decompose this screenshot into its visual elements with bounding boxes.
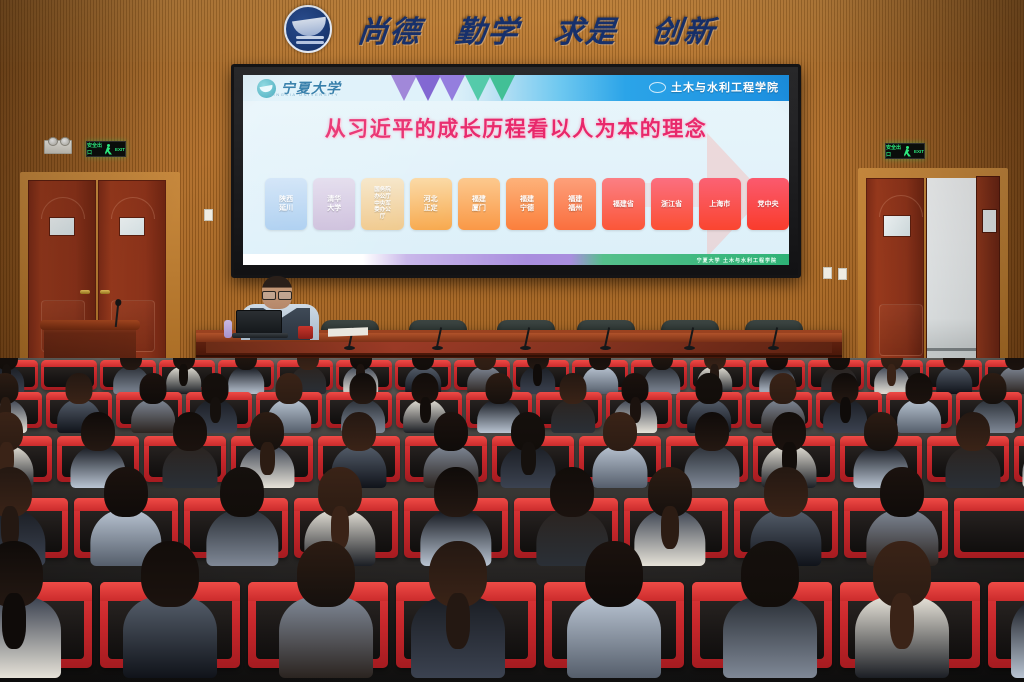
corridor-beyond-door <box>926 178 978 373</box>
table-microphone <box>683 324 695 350</box>
wall-switch-plate[interactable] <box>823 267 832 279</box>
university-emblem-icon <box>284 5 332 53</box>
timeline-card-line: 福州 <box>568 204 582 213</box>
timeline-card-7: 福建福州 <box>554 178 596 230</box>
slide-triangle-decor <box>439 75 465 101</box>
audience-member-head <box>139 373 166 404</box>
door-right[interactable] <box>858 168 1008 380</box>
emergency-light-icon <box>44 140 72 154</box>
audience-member-torso <box>567 597 661 679</box>
exit-sign-left-label: 安全出口 <box>87 142 103 156</box>
audience-member <box>527 358 549 397</box>
timeline-card-8: 福建省 <box>602 178 644 230</box>
timeline-card-line: 延川 <box>279 204 293 213</box>
microphone-base <box>344 346 355 350</box>
audience-member <box>486 373 513 436</box>
laptop <box>232 310 288 338</box>
timeline-card-line: 国务院 <box>374 187 391 194</box>
audience-member-head <box>104 467 148 518</box>
audience-member-head <box>769 373 796 404</box>
slide-triangle-decor <box>391 75 417 101</box>
audience-member-head <box>220 467 264 518</box>
microphone-gooseneck-icon <box>688 327 694 347</box>
audience-member-ponytail <box>533 364 542 386</box>
motto-word-2: 勤学 <box>454 7 523 51</box>
audience-member-head <box>979 373 1006 404</box>
eyeglasses-icon <box>261 291 293 298</box>
audience-member-head <box>695 412 729 451</box>
audience-member-ponytail <box>661 506 679 549</box>
audience-member <box>906 373 933 436</box>
running-man-icon <box>105 144 113 155</box>
timeline-card-3: 国务院办公厅中央军委办公厅 <box>361 178 403 230</box>
door-handle[interactable] <box>80 290 90 294</box>
audience-member <box>881 358 903 397</box>
presenter <box>236 276 324 338</box>
audience-member <box>695 412 729 493</box>
audience-member <box>832 373 859 436</box>
table-skirt-line <box>196 355 842 357</box>
microphone-base <box>600 346 611 350</box>
table-microphone <box>431 324 443 350</box>
slide-triangle-decor <box>465 75 491 101</box>
audience-member-ponytail <box>521 442 535 475</box>
seat-top-rail <box>988 582 1024 601</box>
audience-member-ponytail <box>890 593 914 650</box>
seat-backrest-panel <box>960 506 1024 552</box>
exit-sign-right-en: EXIT <box>914 149 924 154</box>
audience-member-torso <box>279 597 373 679</box>
table-microphone <box>767 324 779 350</box>
audience-member <box>429 541 487 682</box>
exit-sign-left: 安全出口 EXIT <box>86 141 126 157</box>
slide-timeline-cards: 陕西延川清华大学国务院办公厅中央军委办公厅河北正定福建厦门福建宁德福建福州福建省… <box>265 175 789 233</box>
door-window <box>883 215 911 237</box>
audience-member-head <box>349 373 376 404</box>
exit-sign-right: 安全出口 EXIT <box>885 143 925 159</box>
door-window <box>49 217 75 236</box>
exit-sign-right-label: 安全出口 <box>886 144 902 158</box>
audience-member <box>173 412 207 493</box>
audience-member-ponytail <box>420 397 431 423</box>
timeline-card-line: 陕西 <box>279 195 293 204</box>
seat-top-rail <box>41 360 97 367</box>
timeline-card-line: 河北 <box>424 195 438 204</box>
audience-member-head <box>342 412 376 451</box>
audience-member <box>297 541 355 682</box>
audience-member <box>511 412 545 493</box>
timeline-card-11: 党中央 <box>747 178 789 230</box>
audience-member-ponytail <box>446 593 470 650</box>
audience-member-head <box>297 541 355 608</box>
timeline-card-line: 正定 <box>424 204 438 213</box>
audience-member-head <box>585 541 643 608</box>
audience-member <box>589 358 611 397</box>
slide-college-logo: 土木与水利工程学院 <box>649 79 779 95</box>
door-arch-molding <box>879 195 923 217</box>
slide-footer-text: 宁夏大学 土木与水利工程学院 <box>697 257 777 264</box>
seat-top-rail <box>954 498 1024 511</box>
door-panel-molding <box>879 304 923 356</box>
audience-member <box>648 467 692 572</box>
timeline-card-1: 陕西延川 <box>265 178 307 230</box>
lecture-hall-photo: 尚德 勤学 求是 创新 安全出口 EXIT 安全出口 EXIT 宁夏大学 <box>0 0 1024 682</box>
audience-member <box>651 358 673 397</box>
door-leaf[interactable] <box>866 178 924 373</box>
audience-member-head <box>559 373 586 404</box>
audience-member <box>741 541 799 682</box>
wall-switch-plate[interactable] <box>204 209 213 221</box>
audience-member-torso <box>131 399 175 433</box>
audience-area: VE <box>0 358 1024 682</box>
exit-sign-left-en: EXIT <box>115 147 125 152</box>
audience-member-head <box>880 467 924 518</box>
audience-member-ponytail <box>887 364 896 386</box>
auditorium-seat[interactable] <box>954 498 1024 558</box>
door-window <box>119 217 145 236</box>
timeline-card-4: 河北正定 <box>410 178 452 230</box>
timeline-card-line: 福建省 <box>613 200 634 209</box>
audience-member <box>559 373 586 436</box>
timeline-card-line: 上海市 <box>709 200 730 209</box>
wall-motto-banner: 尚德 勤学 求是 创新 <box>284 2 744 56</box>
audience-member-torso <box>897 399 941 433</box>
audience-member-head <box>173 412 207 451</box>
audience-member-torso <box>723 597 817 679</box>
audience-member-head <box>141 541 199 608</box>
motto-word-3: 求是 <box>552 7 621 51</box>
audience-member-ponytail <box>179 364 188 386</box>
lectern-top <box>40 320 140 330</box>
audience-member-torso <box>207 509 278 566</box>
timeline-card-10: 上海市 <box>699 178 741 230</box>
timeline-card-line: 党中央 <box>757 200 778 209</box>
audience-member <box>956 412 990 493</box>
audience-member <box>220 467 264 572</box>
audience-member-head <box>81 412 115 451</box>
timeline-card-line: 浙江省 <box>661 200 682 209</box>
timeline-card-line: 宁德 <box>520 204 534 213</box>
college-logo-icon <box>649 82 666 93</box>
microphone-gooseneck-icon <box>524 327 530 347</box>
audience-member-ponytail <box>2 593 26 650</box>
laptop-keyboard <box>232 333 288 338</box>
seat-top-rail <box>1014 436 1024 446</box>
timeline-card-line: 办公厅 <box>374 194 391 201</box>
audience-member <box>603 412 637 493</box>
timeline-card-line: 福建 <box>472 195 486 204</box>
door-leaf-open[interactable] <box>976 176 1000 376</box>
table-microphone <box>519 324 531 350</box>
water-bottle <box>224 320 232 338</box>
motto-words: 尚德 勤学 求是 创新 <box>358 7 716 51</box>
timeline-card-line: 厅 <box>380 214 386 221</box>
audience-member-ponytail <box>210 397 221 423</box>
audience-member-head <box>906 373 933 404</box>
audience-member-torso <box>123 597 217 679</box>
audience-member-head <box>550 467 594 518</box>
audience-member-head <box>696 373 723 404</box>
audience-member-head <box>486 373 513 404</box>
running-man-icon <box>904 146 912 157</box>
audience-member <box>139 373 166 436</box>
motto-word-4: 创新 <box>650 7 719 51</box>
red-cup <box>298 326 313 339</box>
audience-member-head <box>956 412 990 451</box>
microphone-base <box>432 346 443 350</box>
timeline-card-line: 福建 <box>568 195 582 204</box>
audience-member-head <box>603 412 637 451</box>
audience-member-torso <box>645 366 681 395</box>
door-arch-molding <box>111 197 155 219</box>
audience-member <box>173 358 195 397</box>
audience-member-head <box>434 467 478 518</box>
slide-triangle-decor <box>415 75 441 101</box>
audience-member-torso <box>551 399 595 433</box>
motto-word-1: 尚德 <box>356 7 425 51</box>
audience-member <box>943 358 965 397</box>
audience-member-head <box>764 467 808 518</box>
laptop-screen <box>236 310 282 334</box>
audience-member <box>235 358 257 397</box>
timeline-card-6: 福建宁德 <box>506 178 548 230</box>
door-handle[interactable] <box>100 290 110 294</box>
audience-member <box>141 541 199 682</box>
microphone-base <box>768 346 779 350</box>
table-microphone <box>599 324 611 350</box>
timeline-card-9: 浙江省 <box>651 178 693 230</box>
timeline-card-2: 清华大学 <box>313 178 355 230</box>
audience-member-head <box>434 412 468 451</box>
timeline-card-line: 大学 <box>327 204 341 213</box>
slide-triangle-decor <box>489 75 515 101</box>
audience-member-torso <box>228 366 264 395</box>
door-arch-molding <box>41 197 85 219</box>
audience-member-torso <box>582 366 618 395</box>
audience-member <box>0 541 43 682</box>
microphone-gooseneck-icon <box>604 327 610 347</box>
presentation-slide: 宁夏大学 NINGXIA UNIVERSITY 土木与水利工程学院 从习近平的成… <box>243 75 789 265</box>
audience-member <box>873 541 931 682</box>
slide-college-name: 土木与水利工程学院 <box>671 79 779 95</box>
projection-display: 宁夏大学 NINGXIA UNIVERSITY 土木与水利工程学院 从习近平的成… <box>231 64 801 278</box>
audience-member-head <box>66 373 93 404</box>
audience-member-ponytail <box>840 397 851 423</box>
microphone-gooseneck-icon <box>772 327 778 347</box>
microphone-base <box>684 346 695 350</box>
audience-member-head <box>276 373 303 404</box>
slide-university-name-en: NINGXIA UNIVERSITY <box>269 92 339 97</box>
timeline-card-line: 厦门 <box>472 204 486 213</box>
audience-member-torso <box>936 366 972 395</box>
microphone-gooseneck-icon <box>436 327 442 347</box>
audience-member <box>1005 358 1024 397</box>
timeline-card-5: 福建厦门 <box>458 178 500 230</box>
audience-member-head <box>741 541 799 608</box>
audience-member <box>585 541 643 682</box>
wall-switch-plate[interactable] <box>838 268 847 280</box>
paper-sheet <box>328 327 368 336</box>
timeline-card-line: 福建 <box>520 195 534 204</box>
audience-member-head <box>864 412 898 451</box>
timeline-card-line: 清华 <box>327 195 341 204</box>
microphone-base <box>520 346 531 350</box>
